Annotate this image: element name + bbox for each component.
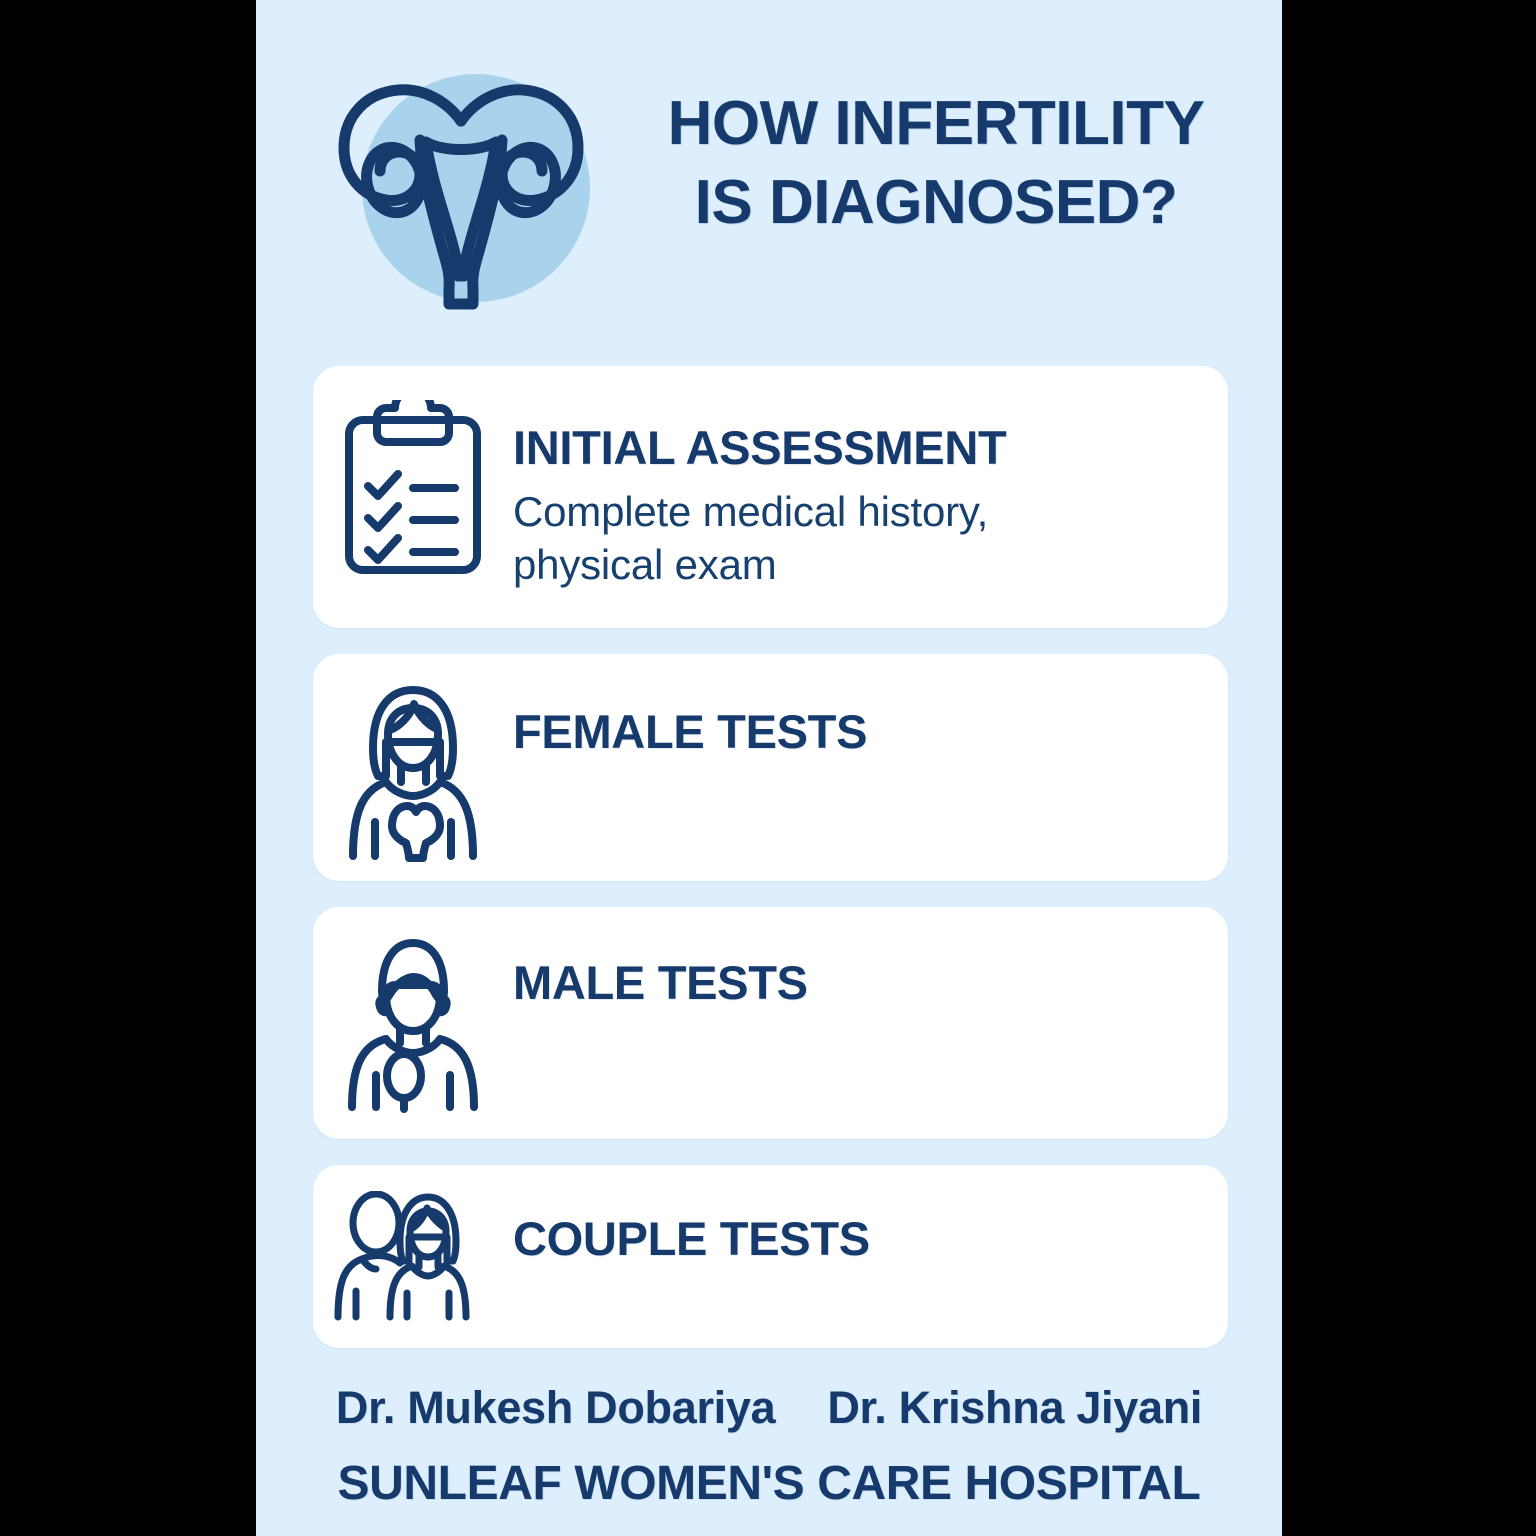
card-body: FEMALE TESTS xyxy=(513,654,1228,759)
card-icon-wrap xyxy=(313,907,513,1113)
doctor-name-2: Dr. Krishna Jiyani xyxy=(827,1382,1202,1434)
card-female-tests[interactable]: FEMALE TESTS xyxy=(313,654,1228,881)
card-description-line-1: Complete medical history, xyxy=(513,485,1196,539)
card-body: COUPLE TESTS xyxy=(513,1165,1228,1266)
clipboard-checklist-icon xyxy=(343,400,483,576)
page-title-line-1: HOW INFERTILITY xyxy=(616,84,1256,163)
card-title: INITIAL ASSESSMENT xyxy=(513,422,1196,475)
card-icon-wrap xyxy=(313,654,513,862)
card-icon-wrap xyxy=(313,1165,513,1321)
poster-root: HOW INFERTILITY IS DIAGNOSED? xyxy=(0,0,1536,1536)
card-body: MALE TESTS xyxy=(513,907,1228,1010)
page-title-line-2: IS DIAGNOSED? xyxy=(616,163,1256,242)
female-body-uterus-icon xyxy=(338,682,488,862)
uterus-icon xyxy=(330,60,592,322)
card-male-tests[interactable]: MALE TESTS xyxy=(313,907,1228,1139)
card-title: COUPLE TESTS xyxy=(513,1213,1196,1266)
card-icon-wrap xyxy=(313,366,513,576)
card-description: Complete medical history, physical exam xyxy=(513,485,1196,593)
doctor-name-1: Dr. Mukesh Dobariya xyxy=(336,1382,775,1434)
poster-canvas: HOW INFERTILITY IS DIAGNOSED? xyxy=(256,0,1282,1536)
header-icon-wrap xyxy=(330,60,592,322)
hospital-phone: 9904032245 xyxy=(256,1529,1282,1536)
poster-header: HOW INFERTILITY IS DIAGNOSED? xyxy=(256,46,1282,336)
male-body-sperm-icon xyxy=(338,933,488,1113)
cards-list: INITIAL ASSESSMENT Complete medical hist… xyxy=(313,366,1228,1348)
page-title: HOW INFERTILITY IS DIAGNOSED? xyxy=(616,84,1256,243)
card-body: INITIAL ASSESSMENT Complete medical hist… xyxy=(513,366,1228,592)
footer-doctors: Dr. Mukesh Dobariya Dr. Krishna Jiyani xyxy=(256,1382,1282,1434)
poster-footer: Dr. Mukesh Dobariya Dr. Krishna Jiyani S… xyxy=(256,1382,1282,1536)
couple-icon xyxy=(328,1191,498,1321)
card-couple-tests[interactable]: COUPLE TESTS xyxy=(313,1165,1228,1348)
card-initial-assessment[interactable]: INITIAL ASSESSMENT Complete medical hist… xyxy=(313,366,1228,628)
card-title: FEMALE TESTS xyxy=(513,706,1196,759)
card-description-line-2: physical exam xyxy=(513,538,1196,592)
hospital-name: SUNLEAF WOMEN'S CARE HOSPITAL xyxy=(256,1456,1282,1511)
card-title: MALE TESTS xyxy=(513,957,1196,1010)
